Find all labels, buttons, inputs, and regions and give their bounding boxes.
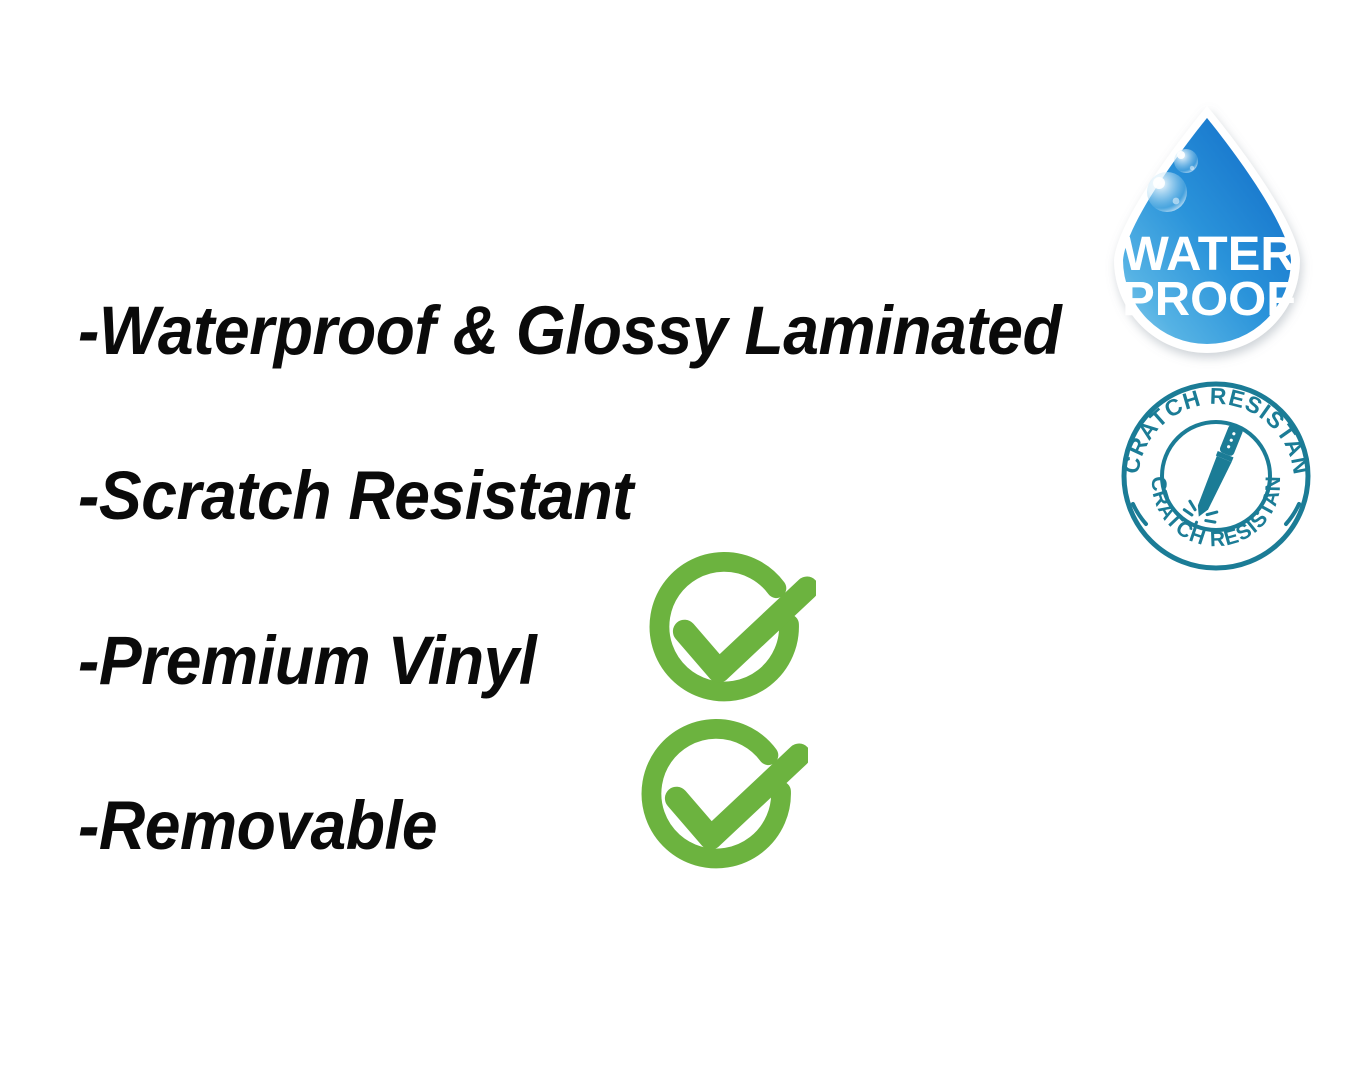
feature-list: -Waterproof & Glossy Laminated -Scratch … bbox=[78, 248, 1098, 908]
list-item: -Premium Vinyl bbox=[78, 578, 1098, 743]
list-item: -Waterproof & Glossy Laminated bbox=[78, 248, 1098, 413]
scratch-resistant-badge: SCRATCH RESISTANT SCRATCH RESISTANT bbox=[1112, 378, 1320, 573]
check-circle-icon bbox=[636, 545, 816, 725]
feature-label-scratch-resistant: -Scratch Resistant bbox=[78, 461, 633, 530]
feature-graphic: -Waterproof & Glossy Laminated -Scratch … bbox=[0, 0, 1359, 1080]
feature-label-removable: -Removable bbox=[78, 791, 437, 860]
list-item: -Removable bbox=[78, 743, 1098, 908]
list-item: -Scratch Resistant bbox=[78, 413, 1098, 578]
waterproof-line2: PROOF bbox=[1122, 272, 1296, 325]
waterproof-badge: WATER PROOF bbox=[1100, 100, 1315, 370]
water-bubble-icon bbox=[1147, 172, 1187, 212]
check-circle-icon bbox=[628, 712, 808, 892]
scratch-text-top: SCRATCH RESISTANT bbox=[1112, 378, 1315, 477]
water-bubble-icon bbox=[1174, 149, 1198, 173]
feature-label-premium-vinyl: -Premium Vinyl bbox=[78, 626, 536, 695]
knife-icon bbox=[1180, 420, 1251, 532]
feature-label-waterproof: -Waterproof & Glossy Laminated bbox=[78, 296, 1061, 365]
